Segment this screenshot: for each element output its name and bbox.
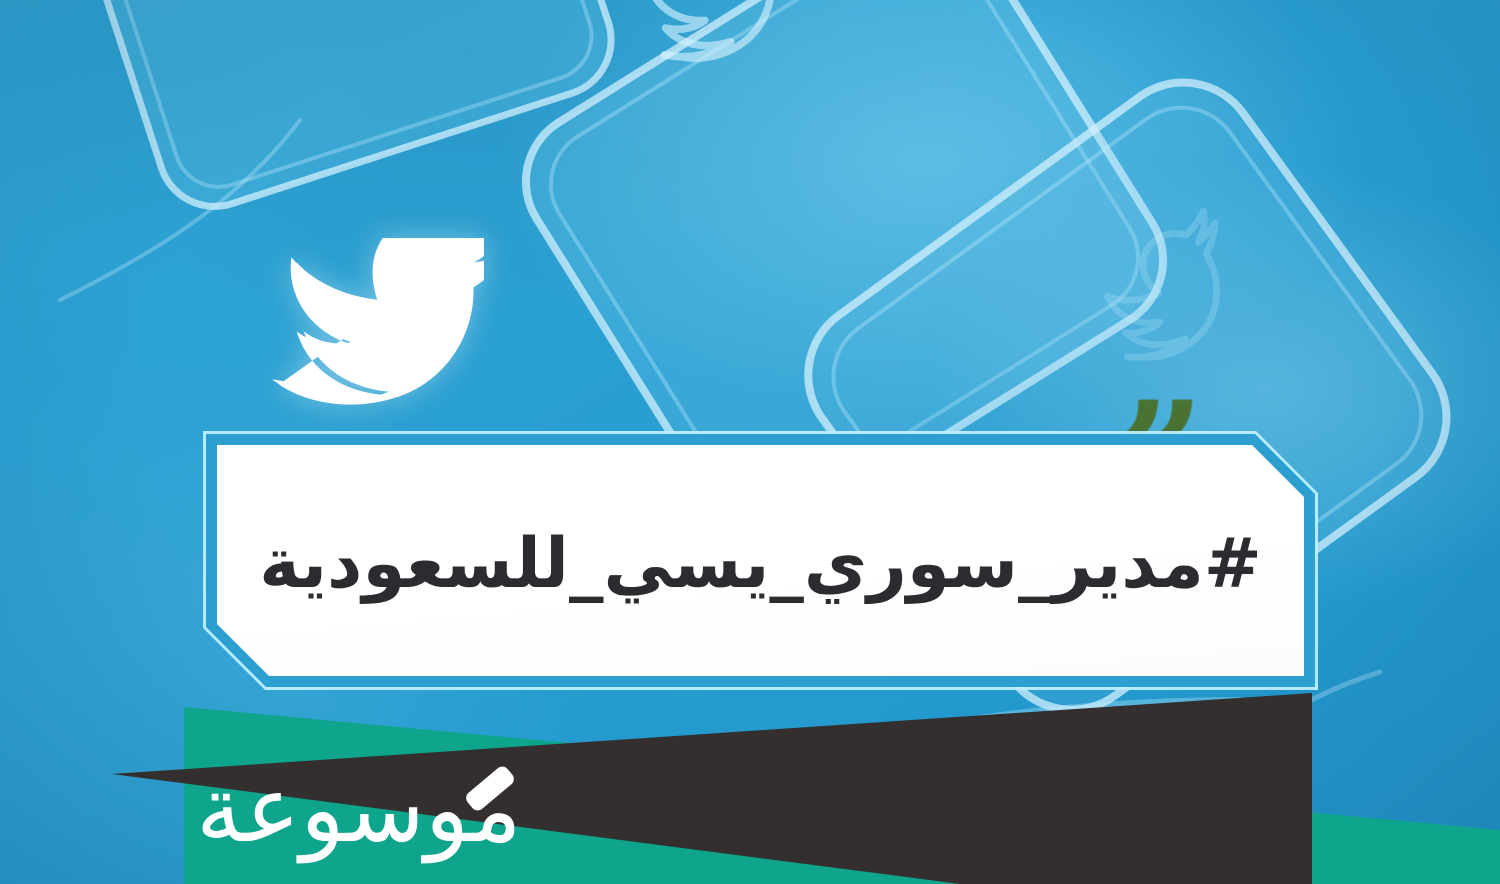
social-graphic-canvas: ” ” #مدير_سوري_يسي_للسعودية موسوعة: [0, 0, 1500, 884]
hashtag-callout-box: #مدير_سوري_يسي_للسعودية: [203, 431, 1318, 690]
site-logo-text: موسوعة: [196, 764, 522, 856]
hashtag-text: #مدير_سوري_يسي_للسعودية: [259, 524, 1261, 604]
twitter-bird-icon: [272, 238, 484, 418]
card-face: #مدير_سوري_يسي_للسعودية: [217, 445, 1304, 676]
site-logo: موسوعة: [196, 764, 566, 874]
